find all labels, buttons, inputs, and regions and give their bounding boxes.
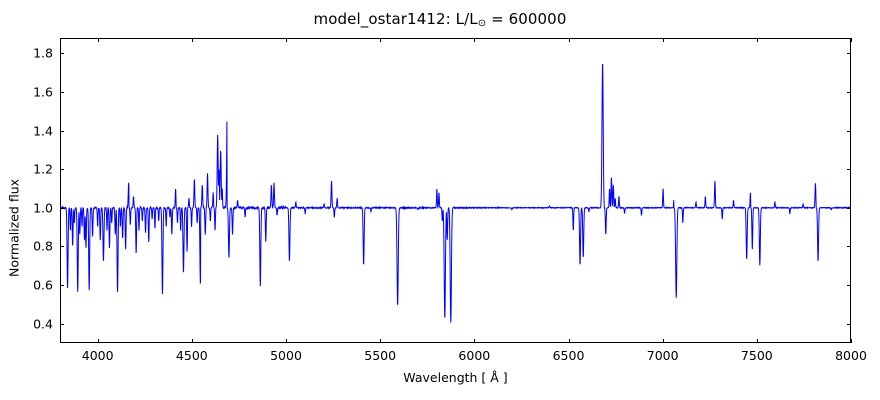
- y-axis-label-holder: Normalized flux: [14, 38, 30, 343]
- x-tickmark: [286, 38, 287, 42]
- x-tickmark: [98, 38, 99, 42]
- y-tickmark: [60, 53, 64, 54]
- spectrum-line-series: [61, 39, 850, 342]
- x-tickmark: [380, 38, 381, 42]
- x-tick-label: 6000: [458, 348, 490, 363]
- x-tick-label: 4500: [176, 348, 208, 363]
- y-tickmark: [847, 92, 851, 93]
- y-tickmark: [847, 246, 851, 247]
- x-tickmark: [98, 339, 99, 343]
- x-tick-label: 4000: [82, 348, 114, 363]
- x-tickmark: [474, 339, 475, 343]
- y-tickmark: [60, 169, 64, 170]
- x-tick-label: 7000: [647, 348, 679, 363]
- y-tickmark: [847, 208, 851, 209]
- y-tickmark: [847, 53, 851, 54]
- y-tickmark: [60, 92, 64, 93]
- sun-symbol-icon: ⊙: [478, 18, 486, 29]
- x-tick-label: 6500: [553, 348, 585, 363]
- y-tickmark: [60, 131, 64, 132]
- y-tickmark: [847, 324, 851, 325]
- y-axis-label: Normalized flux: [7, 179, 22, 277]
- x-tickmark: [286, 339, 287, 343]
- y-tickmark: [847, 131, 851, 132]
- x-tickmark: [192, 339, 193, 343]
- y-tickmark: [60, 285, 64, 286]
- x-tickmark: [569, 38, 570, 42]
- x-tickmark: [192, 38, 193, 42]
- figure-canvas: model_ostar1412: L/L⊙ = 600000 0.40.60.8…: [0, 0, 880, 400]
- y-tickmark: [60, 324, 64, 325]
- plot-area: [60, 38, 851, 343]
- y-tickmark: [60, 208, 64, 209]
- x-tickmark: [851, 339, 852, 343]
- x-tickmark: [851, 38, 852, 42]
- chart-title-prefix: model_ostar1412: L/L: [314, 10, 478, 28]
- x-tick-label: 5500: [364, 348, 396, 363]
- x-tickmark: [474, 38, 475, 42]
- chart-title: model_ostar1412: L/L⊙ = 600000: [0, 10, 880, 29]
- x-tick-label: 7500: [741, 348, 773, 363]
- chart-title-suffix: = 600000: [486, 10, 566, 28]
- y-tickmark: [847, 285, 851, 286]
- x-tickmark: [663, 339, 664, 343]
- x-tick-label: 5000: [270, 348, 302, 363]
- y-tickmark: [60, 246, 64, 247]
- x-tickmark: [663, 38, 664, 42]
- y-tickmark: [847, 169, 851, 170]
- x-tickmark: [757, 38, 758, 42]
- x-tickmark: [569, 339, 570, 343]
- x-tickmark: [380, 339, 381, 343]
- spectrum-path: [61, 65, 850, 323]
- x-axis-label: Wavelength [ Å ]: [60, 370, 851, 385]
- x-tickmark: [757, 339, 758, 343]
- x-tick-label: 8000: [835, 348, 867, 363]
